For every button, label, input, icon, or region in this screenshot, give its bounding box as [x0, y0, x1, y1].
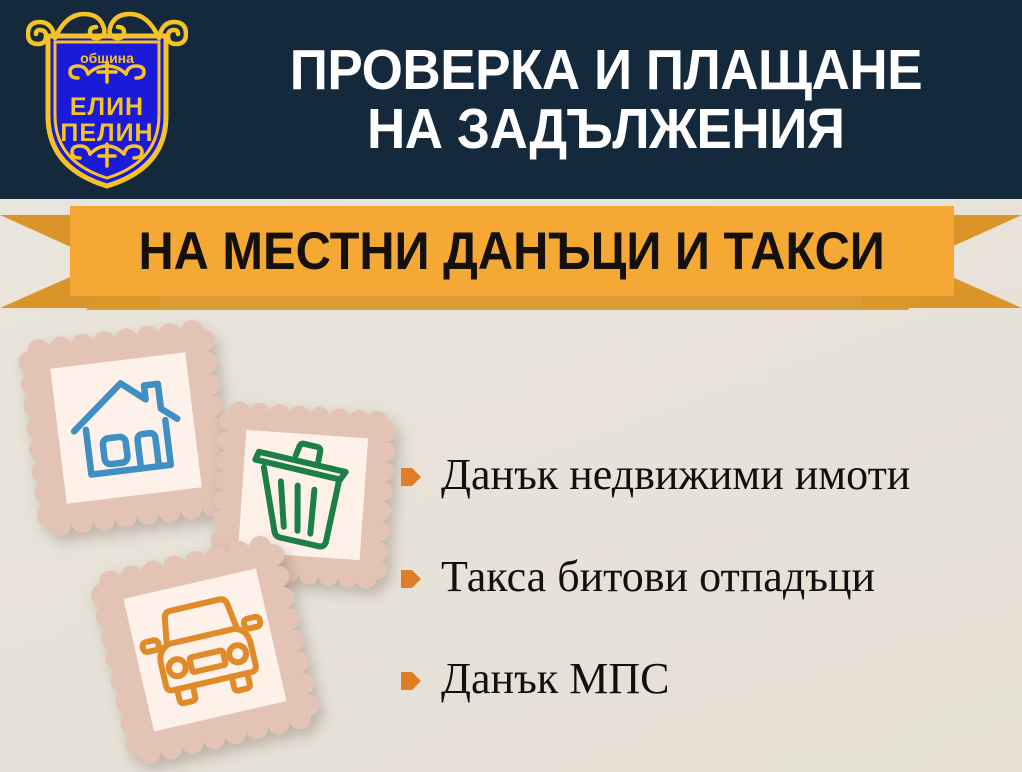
- crest-name-line1: ЕЛИН: [70, 93, 144, 121]
- list-item-label: Данък МПС: [441, 657, 669, 701]
- poster-canvas: община ЕЛИН ПЕЛИН: [0, 0, 1022, 772]
- ribbon-banner: НА МЕСТНИ ДАНЪЦИ И ТАКСИ: [0, 196, 1022, 318]
- ribbon-label: НА МЕСТНИ ДАНЪЦИ И ТАКСИ: [139, 225, 885, 278]
- arrow-bullet-icon: [400, 566, 422, 592]
- list-item[interactable]: Данък недвижими имоти: [400, 424, 1010, 526]
- list-item[interactable]: Такса битови отпадъци: [400, 526, 1010, 628]
- arrow-bullet-icon: [400, 668, 422, 694]
- title-line-1: ПРОВЕРКА И ПЛАЩАНЕ: [290, 41, 922, 100]
- list-item-label: Такса битови отпадъци: [441, 555, 875, 599]
- list-item-label: Данък недвижими имоти: [441, 453, 910, 497]
- list-item[interactable]: Данък МПС: [400, 628, 1010, 730]
- arrow-bullet-icon: [400, 464, 422, 490]
- title-line-2: НА ЗАДЪЛЖЕНИЯ: [367, 100, 845, 159]
- ribbon-body: НА МЕСТНИ ДАНЪЦИ И ТАКСИ: [70, 206, 954, 296]
- stamp-card-vehicle-tax: [85, 530, 325, 770]
- tax-type-list: Данък недвижими имоти Такса битови отпад…: [400, 424, 1010, 730]
- coat-of-arms-icon: община ЕЛИН ПЕЛИН: [26, 8, 188, 192]
- header-bar: община ЕЛИН ПЕЛИН: [0, 0, 1022, 199]
- page-title: ПРОВЕРКА И ПЛАЩАНЕ НА ЗАДЪЛЖЕНИЯ: [190, 0, 1022, 199]
